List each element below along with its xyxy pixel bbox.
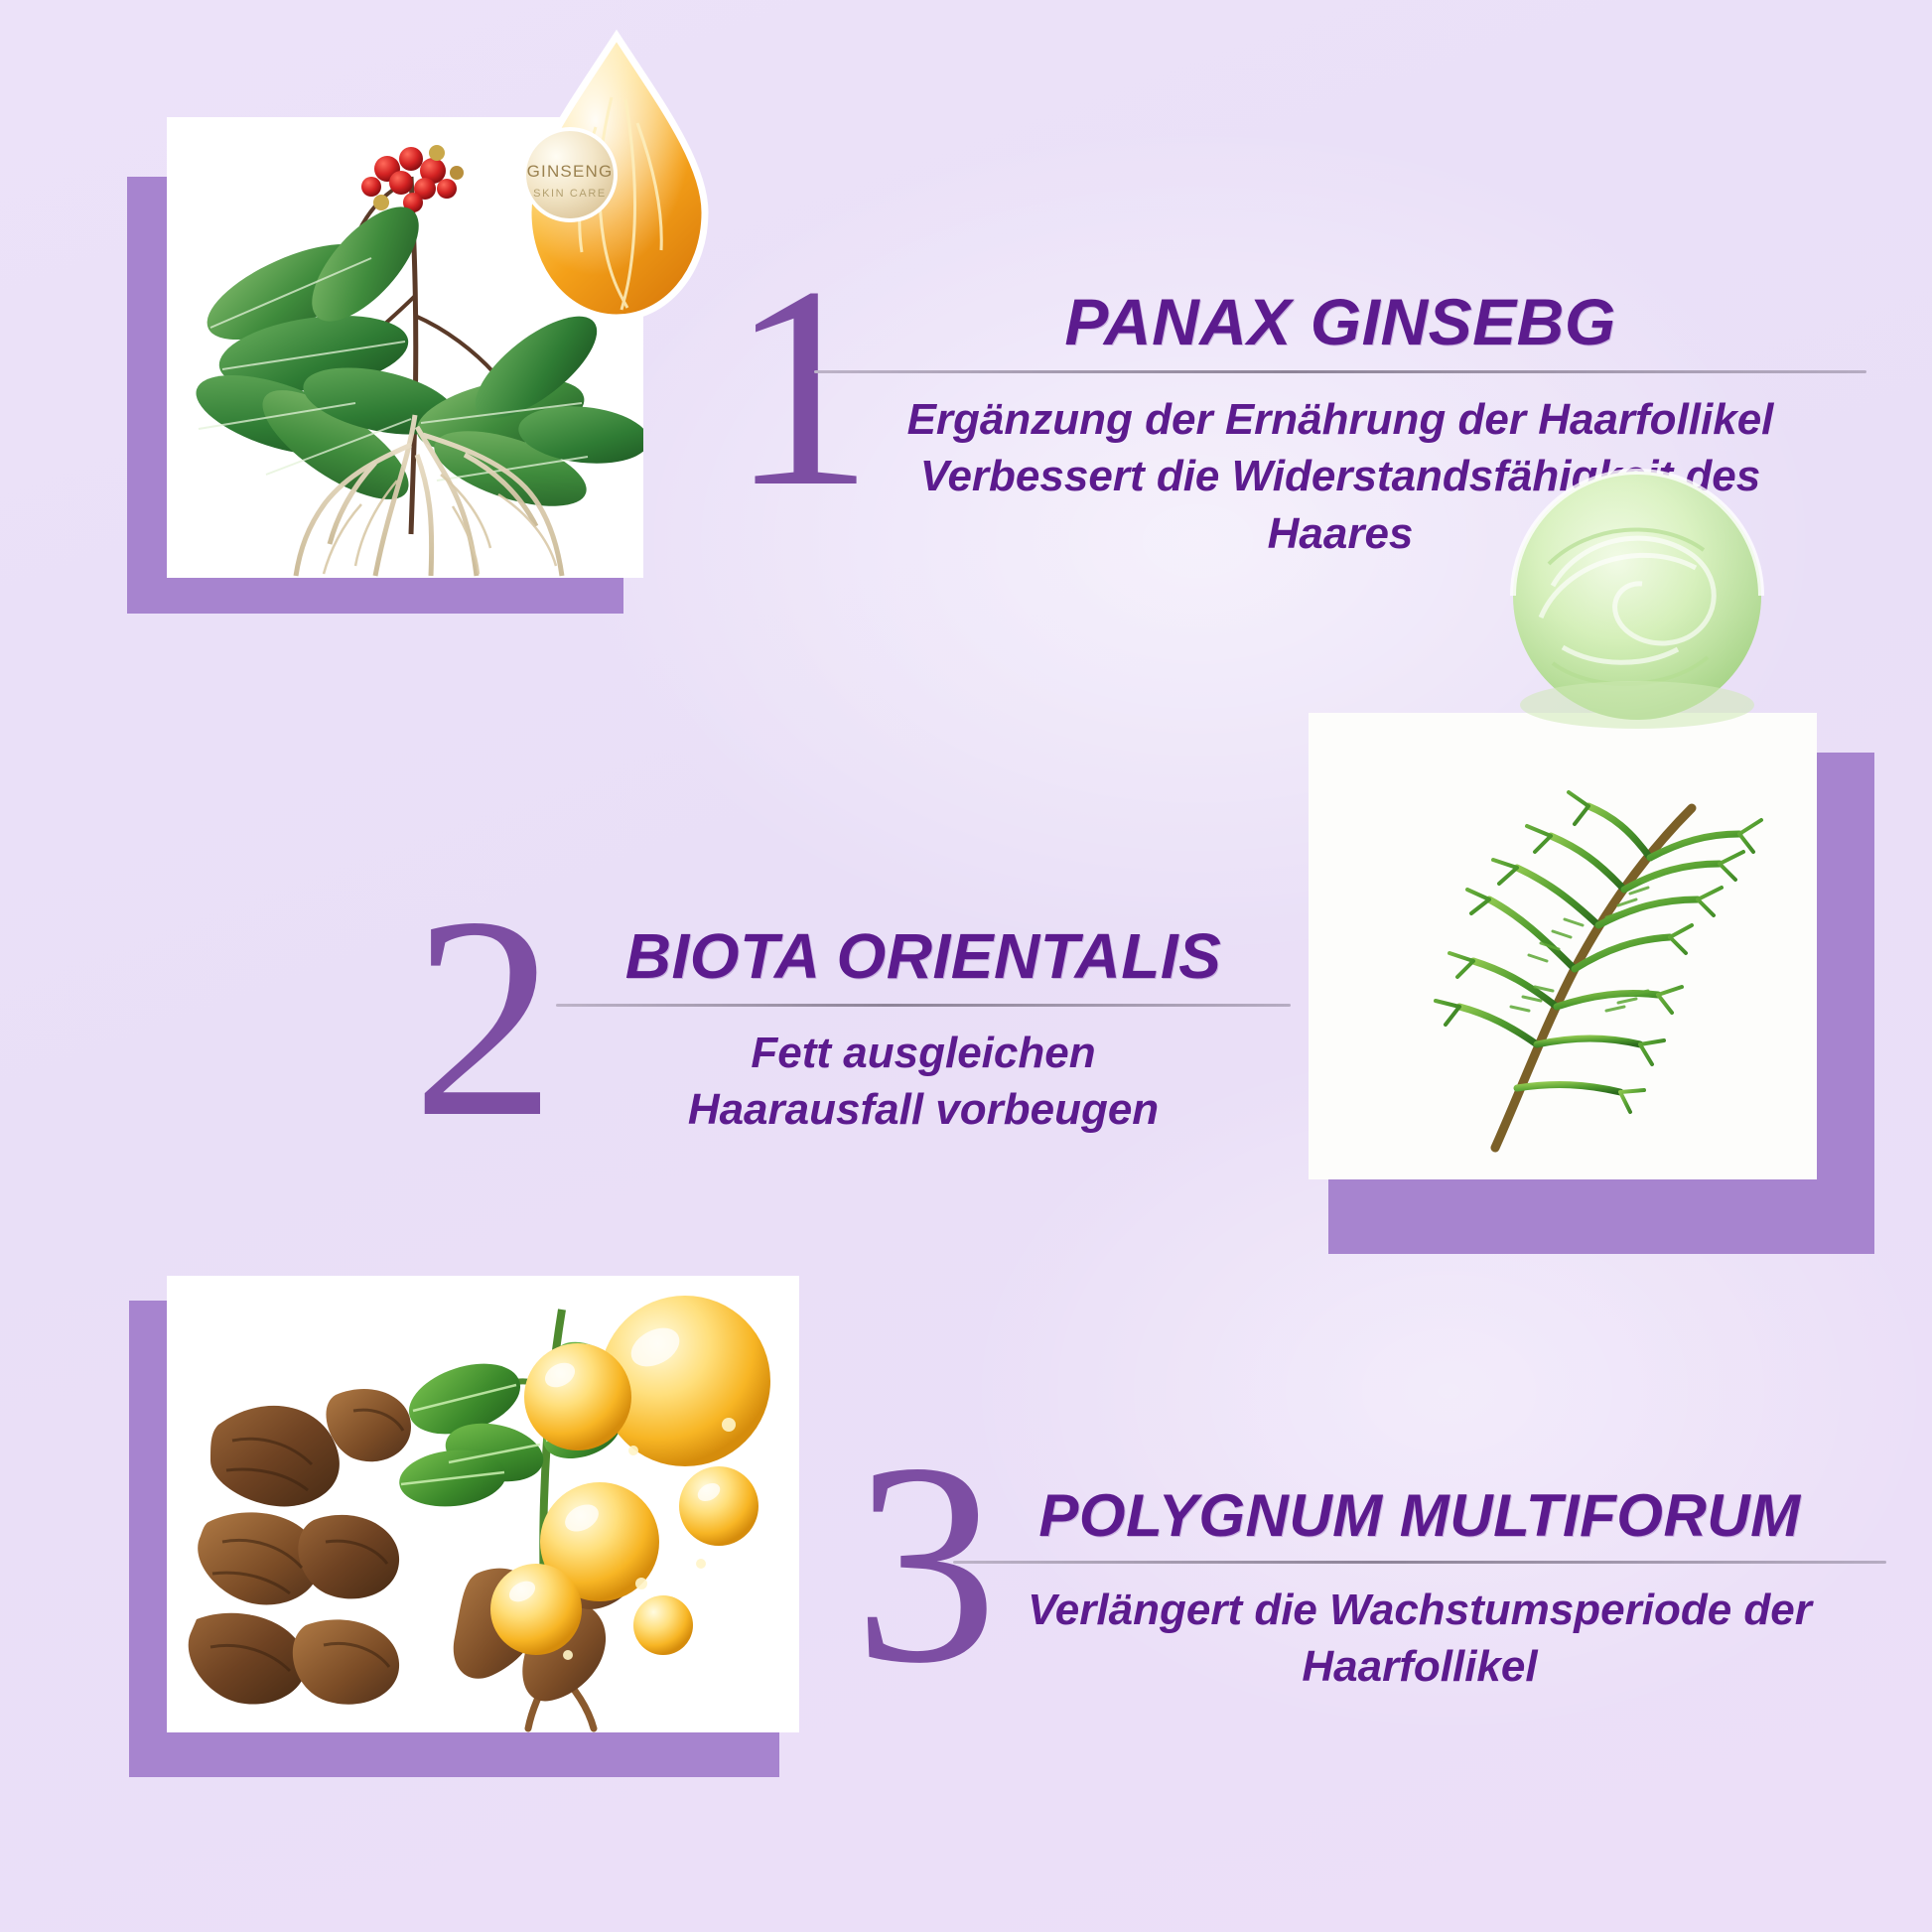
section-2-photo-panel	[1309, 713, 1817, 1179]
section-3-description-line-2: Haarfollikel	[953, 1638, 1886, 1695]
section-2-divider	[556, 1004, 1291, 1007]
ginseng-oil-droplet: GINSENG SKIN CARE	[492, 28, 741, 355]
section-1-description-line-1: Ergänzung der Ernährung der Haarfollikel	[814, 391, 1866, 448]
section-2-description-line-1: Fett ausgleichen	[556, 1025, 1291, 1081]
section-3-text-block: POLYGNUM MULTIFORUM Verlängert die Wachs…	[953, 1484, 1886, 1695]
section-3-image-frame	[129, 1276, 799, 1777]
section-2-description-line-2: Haarausfall vorbeugen	[556, 1081, 1291, 1138]
section-3-photo-panel	[167, 1276, 799, 1732]
ginseng-label-secondary: SKIN CARE	[533, 188, 607, 200]
infographic-canvas: GINSENG SKIN CARE 1 PANAX GINSEBG Ergänz…	[0, 0, 1932, 1932]
biota-orientalis-illustration	[1309, 713, 1817, 1179]
section-1-divider	[814, 370, 1866, 373]
section-2-image-frame	[1309, 713, 1874, 1254]
section-2-description: Fett ausgleichen Haarausfall vorbeugen	[556, 1025, 1291, 1138]
section-3-title: POLYGNUM MULTIFORUM	[953, 1484, 1886, 1547]
ginseng-label-primary: GINSENG	[527, 162, 614, 181]
section-3-description: Verlängert die Wachstumsperiode der Haar…	[953, 1582, 1886, 1695]
section-2-text-block: BIOTA ORIENTALIS Fett ausgleichen Haarau…	[556, 923, 1291, 1139]
section-2-title: BIOTA ORIENTALIS	[556, 923, 1291, 990]
section-2-numeral: 2	[412, 874, 556, 1162]
green-cream-jar	[1493, 469, 1781, 745]
section-1-title: PANAX GINSEBG	[814, 288, 1866, 356]
section-3-divider	[953, 1561, 1886, 1564]
polygonum-roots-illustration	[167, 1276, 799, 1732]
section-3-description-line-1: Verlängert die Wachstumsperiode der	[953, 1582, 1886, 1638]
